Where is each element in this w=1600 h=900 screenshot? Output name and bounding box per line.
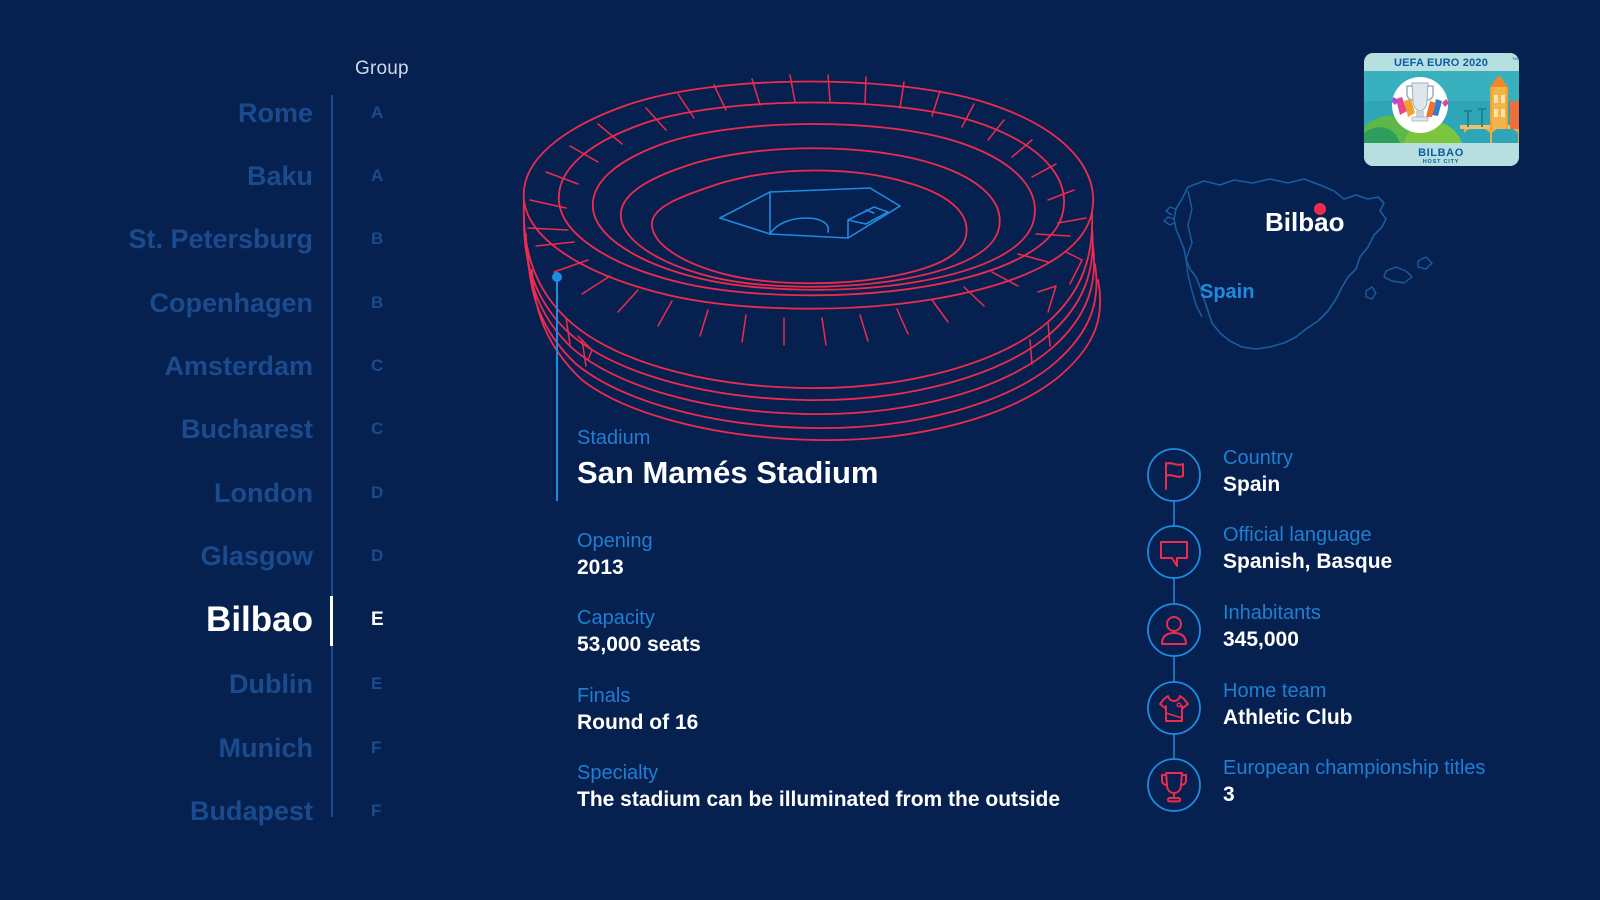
- city-name: Amsterdam: [164, 346, 313, 386]
- city-group: D: [371, 536, 383, 576]
- city-group: C: [371, 409, 383, 449]
- city-name: Bucharest: [181, 409, 313, 449]
- capacity-label: Capacity: [577, 605, 701, 631]
- fact-value: 3: [1223, 781, 1485, 809]
- city-name: Rome: [238, 93, 313, 133]
- city-row-bucharest[interactable]: Bucharest C: [0, 409, 420, 449]
- fact-value: 345,000: [1223, 626, 1321, 654]
- city-group: C: [371, 346, 383, 386]
- city-group: F: [371, 791, 381, 831]
- city-group: E: [371, 600, 384, 640]
- fact-label: Official language: [1223, 522, 1392, 548]
- stadium-info-panel: Stadium San Mamés Stadium Opening 2013 C…: [577, 425, 1097, 494]
- fact-label: Home team: [1223, 678, 1353, 704]
- map-country-label: Spain: [1200, 281, 1254, 304]
- stadium-wireframe-illustration: [470, 60, 1130, 450]
- city-group: F: [371, 728, 381, 768]
- stadium-label: Stadium: [577, 425, 1097, 451]
- city-name: Budapest: [190, 791, 313, 831]
- fact-value: Spanish, Basque: [1223, 548, 1392, 576]
- group-column-header: Group: [355, 58, 409, 80]
- city-name: Copenhagen: [149, 283, 313, 323]
- infographic-canvas: Group Rome A Baku A St. Petersburg B Cop…: [0, 0, 1600, 900]
- stadium-opening-block: Opening 2013: [577, 528, 653, 582]
- finals-label: Finals: [577, 683, 698, 709]
- fact-value: Athletic Club: [1223, 704, 1353, 732]
- city-group: E: [371, 664, 382, 704]
- fact-row-country: Country Spain: [1146, 447, 1546, 503]
- badge-city: BILBAO: [1418, 147, 1464, 159]
- city-row-copenhagen[interactable]: Copenhagen B: [0, 283, 420, 323]
- specialty-label: Specialty: [577, 760, 1060, 786]
- opening-value: 2013: [577, 554, 653, 582]
- spain-map: [1130, 165, 1450, 395]
- fact-text: Country Spain: [1223, 445, 1293, 499]
- fact-text: European championship titles 3: [1223, 755, 1485, 809]
- city-row-glasgow[interactable]: Glasgow D: [0, 536, 420, 576]
- city-row-london[interactable]: London D: [0, 473, 420, 513]
- city-name: Munich: [219, 728, 314, 768]
- fact-row-championship-titles: European championship titles 3: [1146, 757, 1546, 813]
- fact-row-home-team: Home team Athletic Club: [1146, 680, 1546, 736]
- stadium-leader-dot: [552, 272, 562, 282]
- city-row-st-petersburg[interactable]: St. Petersburg B: [0, 219, 420, 259]
- fact-label: European championship titles: [1223, 755, 1485, 781]
- city-row-bilbao[interactable]: Bilbao E: [0, 600, 420, 640]
- badge-trademark: TM: [1512, 56, 1518, 61]
- city-row-budapest[interactable]: Budapest F: [0, 791, 420, 831]
- city-name: Bilbao: [206, 600, 313, 640]
- city-list-divider: [331, 95, 333, 817]
- city-name: Dublin: [229, 664, 313, 704]
- stadium-leader-line: [556, 276, 558, 501]
- euro-2020-host-city-badge: UEFA EURO 2020 TM: [1364, 53, 1519, 166]
- city-row-munich[interactable]: Munich F: [0, 728, 420, 768]
- city-group: D: [371, 473, 383, 513]
- speech-bubble-icon: [1146, 524, 1202, 580]
- fact-text: Home team Athletic Club: [1223, 678, 1353, 732]
- stadium-capacity-block: Capacity 53,000 seats: [577, 605, 701, 659]
- city-row-dublin[interactable]: Dublin E: [0, 664, 420, 704]
- stadium-specialty-block: Specialty The stadium can be illuminated…: [577, 760, 1060, 814]
- stadium-finals-block: Finals Round of 16: [577, 683, 698, 737]
- specialty-value: The stadium can be illuminated from the …: [577, 786, 1060, 814]
- trophy-icon: [1146, 757, 1202, 813]
- capacity-value: 53,000 seats: [577, 631, 701, 659]
- city-group: A: [371, 93, 383, 133]
- fact-label: Inhabitants: [1223, 600, 1321, 626]
- host-city-list: Group Rome A Baku A St. Petersburg B Cop…: [0, 0, 420, 900]
- map-city-label: Bilbao: [1265, 207, 1344, 238]
- flag-icon: [1146, 447, 1202, 503]
- city-group: A: [371, 156, 383, 196]
- city-row-rome[interactable]: Rome A: [0, 93, 420, 133]
- city-group: B: [371, 219, 383, 259]
- finals-value: Round of 16: [577, 709, 698, 737]
- city-name: St. Petersburg: [128, 219, 313, 259]
- fact-value: Spain: [1223, 471, 1293, 499]
- fact-row-official-language: Official language Spanish, Basque: [1146, 524, 1546, 580]
- city-group: B: [371, 283, 383, 323]
- opening-label: Opening: [577, 528, 653, 554]
- badge-subtitle: HOST CITY: [1423, 159, 1460, 165]
- stadium-name: San Mamés Stadium: [577, 452, 1097, 494]
- fact-text: Inhabitants 345,000: [1223, 600, 1321, 654]
- city-row-amsterdam[interactable]: Amsterdam C: [0, 346, 420, 386]
- fact-text: Official language Spanish, Basque: [1223, 522, 1392, 576]
- person-icon: [1146, 602, 1202, 658]
- shirt-icon: [1146, 680, 1202, 736]
- city-name: Baku: [247, 156, 313, 196]
- fact-label: Country: [1223, 445, 1293, 471]
- fact-row-inhabitants: Inhabitants 345,000: [1146, 602, 1546, 658]
- city-name: Glasgow: [200, 536, 313, 576]
- badge-title: UEFA EURO 2020: [1394, 57, 1488, 69]
- city-name: London: [214, 473, 313, 513]
- city-row-baku[interactable]: Baku A: [0, 156, 420, 196]
